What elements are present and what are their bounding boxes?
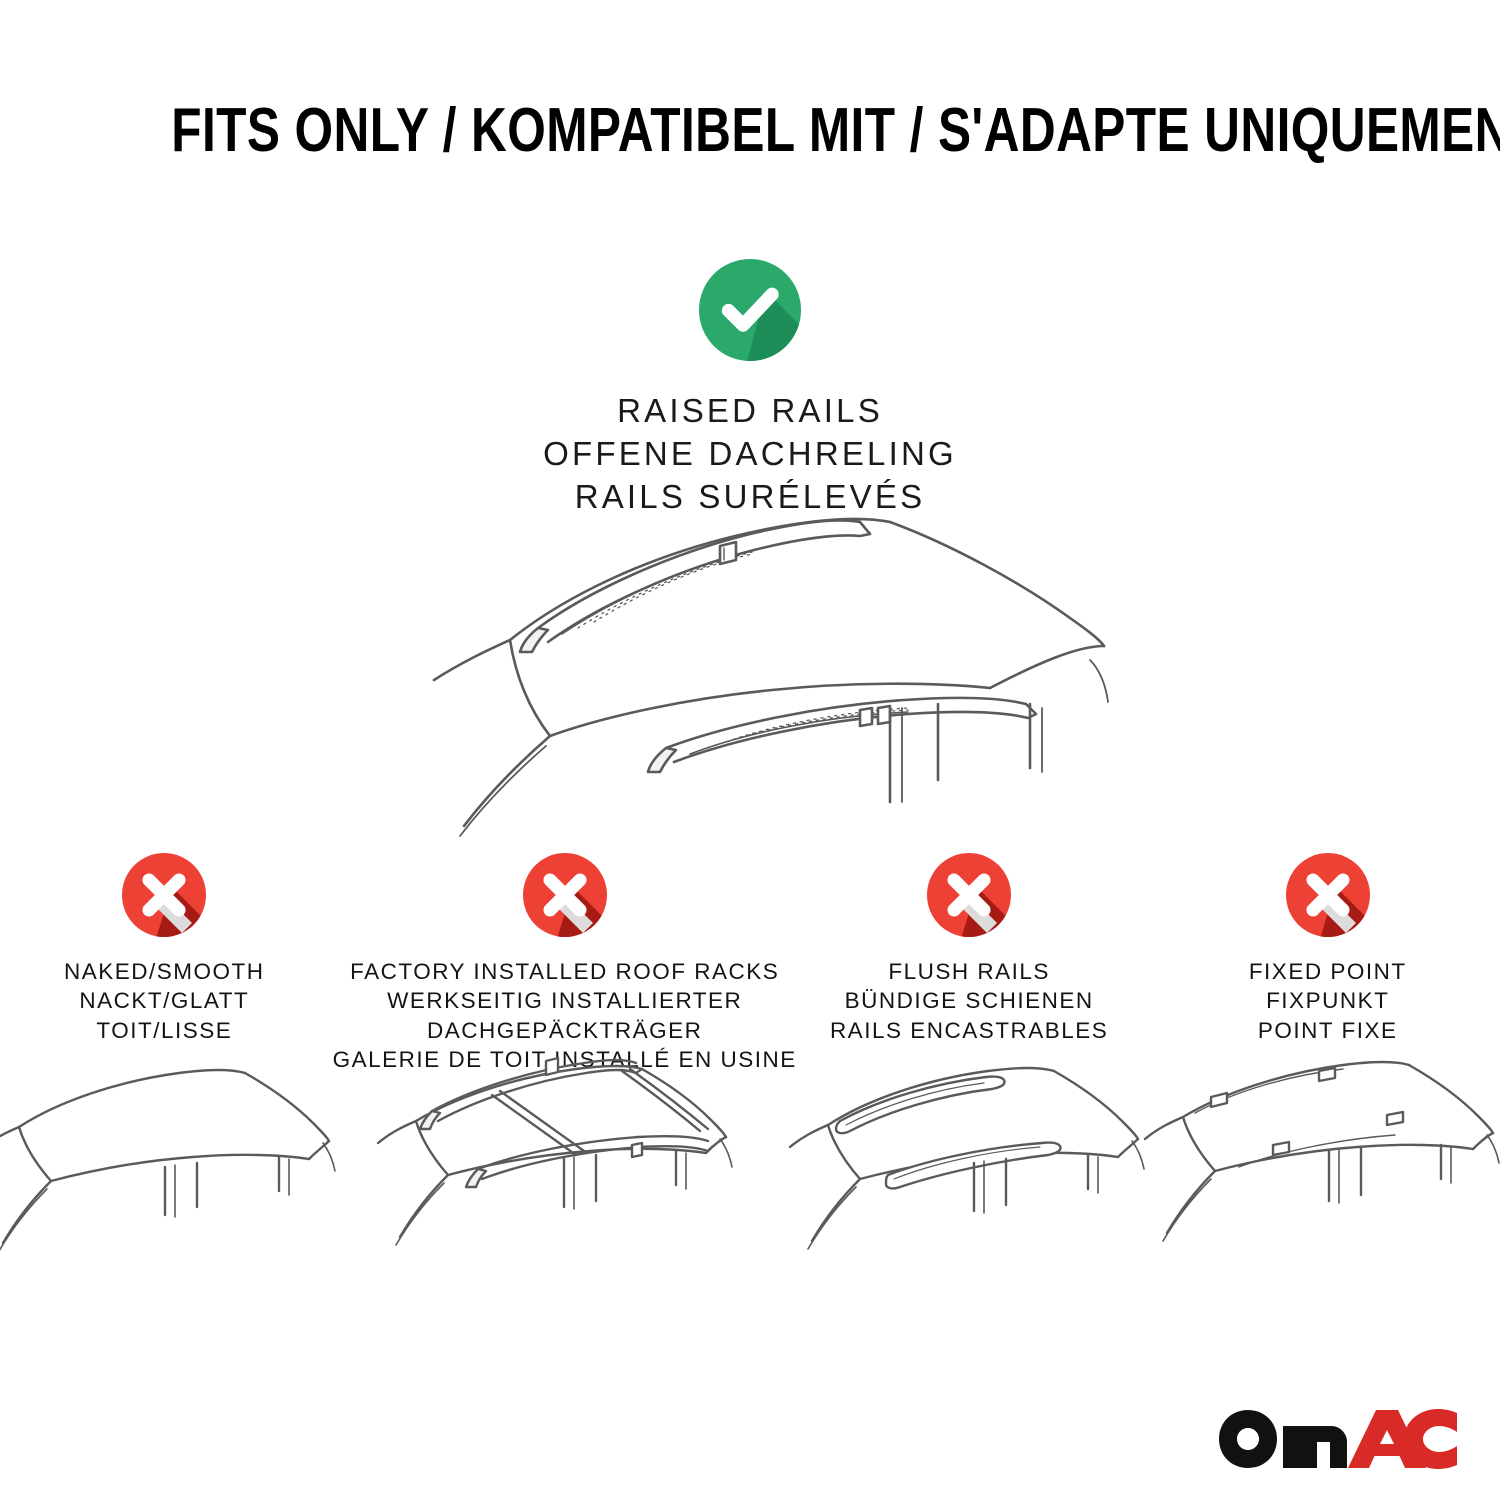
incompatible-labels: FLUSH RAILS BÜNDIGE SCHIENEN RAILS ENCAS… (830, 957, 1108, 1045)
car-roof-factory-roof-racks-illustration (370, 1055, 760, 1300)
item-label-en: NAKED/SMOOTH (64, 957, 265, 986)
compatible-label-de: OFFENE DACHRELING (0, 433, 1500, 476)
compatible-label-en: RAISED RAILS (0, 390, 1500, 433)
incompatible-labels: FIXED POINT FIXPUNKT POINT FIXE (1249, 957, 1407, 1045)
car-roof-flush-rails-illustration (784, 1055, 1154, 1300)
car-roof-fixed-point-illustration (1143, 1055, 1500, 1300)
item-label-de: BÜNDIGE SCHIENEN (830, 986, 1108, 1015)
incompatible-item-fixed-point: FIXED POINT FIXPUNKT POINT FIXE (1155, 845, 1500, 1045)
fitment-infographic: FITS ONLY / KOMPATIBEL MIT / S'ADAPTE UN… (0, 0, 1500, 1500)
red-x-icon (1278, 845, 1378, 945)
compatible-labels: RAISED RAILS OFFENE DACHRELING RAILS SUR… (0, 390, 1500, 519)
item-label-de: NACKT/GLATT (64, 986, 265, 1015)
omac-logo-mark (1218, 1408, 1458, 1472)
item-label-de-1: WERKSEITIG INSTALLIERTER (333, 986, 797, 1015)
incompatible-item-flush-rails: FLUSH RAILS BÜNDIGE SCHIENEN RAILS ENCAS… (797, 845, 1142, 1045)
item-label-de-2: DACHGEPÄCKTRÄGER (333, 1016, 797, 1045)
item-label-en: FLUSH RAILS (830, 957, 1108, 986)
page-title: FITS ONLY / KOMPATIBEL MIT / S'ADAPTE UN… (0, 98, 1500, 163)
red-x-icon (515, 845, 615, 945)
omac-logo (1218, 1408, 1458, 1472)
item-label-fr: TOIT/LISSE (64, 1016, 265, 1045)
item-label-de: FIXPUNKT (1249, 986, 1407, 1015)
incompatible-labels: NAKED/SMOOTH NACKT/GLATT TOIT/LISSE (64, 957, 265, 1045)
red-x-icon (919, 845, 1019, 945)
incompatible-item-naked-smooth: NAKED/SMOOTH NACKT/GLATT TOIT/LISSE (0, 845, 337, 1045)
item-label-en: FIXED POINT (1249, 957, 1407, 986)
incompatible-section: NAKED/SMOOTH NACKT/GLATT TOIT/LISSE (0, 845, 1500, 1305)
green-check-icon (692, 252, 808, 368)
red-x-icon (114, 845, 214, 945)
car-roof-naked-smooth-illustration (0, 1055, 349, 1300)
item-label-en: FACTORY INSTALLED ROOF RACKS (333, 957, 797, 986)
incompatible-item-factory-roof-racks: FACTORY INSTALLED ROOF RACKS WERKSEITIG … (333, 845, 797, 1074)
page-title-text: FITS ONLY / KOMPATIBEL MIT / S'ADAPTE UN… (171, 98, 1500, 163)
compatible-section: RAISED RAILS OFFENE DACHRELING RAILS SUR… (0, 252, 1500, 519)
car-roof-raised-rails-illustration (390, 510, 1110, 840)
item-label-fr: RAILS ENCASTRABLES (830, 1016, 1108, 1045)
item-label-fr: POINT FIXE (1249, 1016, 1407, 1045)
